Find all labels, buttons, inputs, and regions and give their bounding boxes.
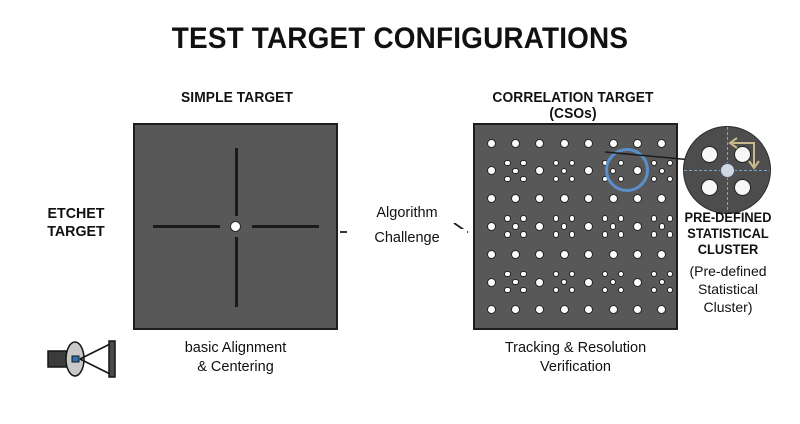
- cluster-dot: [602, 215, 609, 222]
- cluster-dot-center: [659, 223, 666, 230]
- magnifier-disc: [683, 126, 771, 214]
- cluster-dot-center: [610, 279, 617, 286]
- cluster-dot: [602, 231, 609, 238]
- cluster-dot: [569, 271, 576, 278]
- page-title: TEST TARGET CONFIGURATIONS: [28, 22, 772, 56]
- magnified-cluster-view: [683, 126, 771, 214]
- grid-dot-single: [560, 194, 569, 203]
- cluster-dot: [504, 160, 511, 167]
- grid-dot-single: [535, 222, 544, 231]
- grid-dot-single: [487, 278, 496, 287]
- predefined-cluster-label-line3: CLUSTER: [679, 242, 778, 258]
- grid-dot-single: [535, 166, 544, 175]
- cluster-dot: [520, 231, 527, 238]
- grid-dot-single: [487, 194, 496, 203]
- cluster-dot: [667, 231, 674, 238]
- grid-dot-single: [633, 222, 642, 231]
- cluster-dot: [569, 231, 576, 238]
- predefined-cluster-sublabel-line3: Cluster): [668, 298, 788, 316]
- grid-dot-single: [609, 305, 618, 314]
- cluster-dot-bottom-right: [734, 179, 751, 196]
- cluster-dot-bottom-left: [701, 179, 718, 196]
- predefined-cluster-label-line2: STATISTICAL: [679, 226, 778, 242]
- grid-dot-single: [487, 250, 496, 259]
- predefined-cluster-sublabel-line2: Statistical: [668, 280, 788, 298]
- cluster-dot: [520, 287, 527, 294]
- cluster-dot: [569, 160, 576, 167]
- cluster-dot-center: [512, 223, 519, 230]
- predefined-cluster-label-line1: PRE-DEFINED: [679, 210, 778, 226]
- crosshair-right-line: [252, 225, 319, 228]
- grid-dot-single: [584, 222, 593, 231]
- diagram-canvas: TEST TARGET CONFIGURATIONS ETCHET TARGET…: [0, 0, 800, 424]
- cluster-dot: [520, 215, 527, 222]
- cluster-dot: [602, 271, 609, 278]
- cluster-dot: [618, 231, 625, 238]
- etchet-target-label-line2: TARGET: [25, 223, 128, 241]
- cluster-dot: [504, 271, 511, 278]
- algorithm-challenge-label-line1: Algorithm: [347, 204, 467, 223]
- grid-dot-single: [609, 250, 618, 259]
- cluster-dot: [553, 176, 560, 183]
- grid-dot-single: [535, 194, 544, 203]
- simple-target-caption-line1: basic Alignment: [133, 339, 338, 358]
- cluster-dot-center: [512, 168, 519, 175]
- cluster-dot: [553, 287, 560, 294]
- cluster-dot: [569, 215, 576, 222]
- correlation-target-heading: CORRELATION TARGET (CSOs): [468, 90, 679, 122]
- cluster-dot: [504, 215, 511, 222]
- grid-dot-single: [633, 305, 642, 314]
- cluster-dot-center: [610, 223, 617, 230]
- grid-dot-single: [584, 194, 593, 203]
- grid-dot-single: [584, 139, 593, 148]
- grid-dot-single: [633, 194, 642, 203]
- predefined-cluster-sublabel: (Pre-defined Statistical Cluster): [668, 262, 788, 317]
- grid-dot-single: [560, 250, 569, 259]
- cluster-dot: [520, 176, 527, 183]
- cluster-dot: [651, 287, 658, 294]
- cluster-dot-center: [659, 279, 666, 286]
- algorithm-challenge-label: Algorithm Challenge: [347, 204, 467, 247]
- correlation-target-caption: Tracking & Resolution Verification: [458, 339, 693, 377]
- simple-target-caption: basic Alignment & Centering: [133, 339, 338, 377]
- grid-dot-single: [487, 305, 496, 314]
- cluster-dot: [504, 231, 511, 238]
- cluster-dot: [553, 231, 560, 238]
- grid-dot-single: [657, 250, 666, 259]
- cluster-dot: [667, 215, 674, 222]
- cluster-dot: [569, 176, 576, 183]
- cluster-dot: [553, 271, 560, 278]
- cluster-dot: [651, 271, 658, 278]
- grid-dot-single: [560, 139, 569, 148]
- cluster-dot: [618, 271, 625, 278]
- correlation-target-caption-line1: Tracking & Resolution: [458, 339, 693, 358]
- center-alignment-dot: [230, 221, 241, 232]
- grid-dot-single: [511, 139, 520, 148]
- grid-dot-single: [584, 250, 593, 259]
- grid-dot-single: [535, 278, 544, 287]
- cluster-dot-center: [561, 168, 568, 175]
- cluster-dot-center: [512, 279, 519, 286]
- measurement-arrows-icon: [728, 135, 768, 175]
- grid-dot-single: [511, 305, 520, 314]
- predefined-cluster-sublabel-line1: (Pre-defined: [668, 262, 788, 280]
- grid-dot-single: [633, 278, 642, 287]
- grid-dot-single: [584, 305, 593, 314]
- grid-dot-single: [657, 305, 666, 314]
- grid-dot-single: [535, 139, 544, 148]
- grid-dot-single: [560, 305, 569, 314]
- crosshair-top-line: [235, 148, 238, 216]
- simple-target-panel: [133, 123, 338, 330]
- cluster-dot: [504, 176, 511, 183]
- etchet-target-label: ETCHET TARGET: [25, 205, 128, 242]
- grid-dot-single: [535, 250, 544, 259]
- grid-dot-single: [487, 166, 496, 175]
- cluster-dot: [569, 287, 576, 294]
- algorithm-challenge-label-line2: Challenge: [347, 229, 467, 248]
- simple-target-heading: SIMPLE TARGET: [138, 90, 336, 106]
- cluster-dot-center: [561, 223, 568, 230]
- grid-dot-single: [584, 278, 593, 287]
- simple-target-caption-line2: & Centering: [133, 358, 338, 377]
- grid-dot-single: [584, 166, 593, 175]
- crosshair-left-line: [153, 225, 220, 228]
- cluster-dot: [618, 287, 625, 294]
- cluster-dot: [651, 215, 658, 222]
- cluster-dot: [651, 231, 658, 238]
- cluster-dot: [504, 287, 511, 294]
- cluster-dot-top-left: [701, 146, 718, 163]
- crosshair-bottom-line: [235, 237, 238, 307]
- grid-dot-single: [609, 194, 618, 203]
- cluster-dot: [553, 160, 560, 167]
- grid-dot-single: [535, 305, 544, 314]
- etchet-target-label-line1: ETCHET: [25, 205, 128, 223]
- grid-dot-single: [511, 250, 520, 259]
- correlation-target-caption-line2: Verification: [458, 358, 693, 377]
- cluster-dot: [520, 271, 527, 278]
- cluster-dot: [618, 215, 625, 222]
- grid-dot-single: [633, 250, 642, 259]
- grid-dot-single: [657, 194, 666, 203]
- grid-dot-single: [511, 194, 520, 203]
- cluster-dot: [553, 215, 560, 222]
- grid-dot-single: [487, 139, 496, 148]
- camera-projector-icon: [46, 331, 122, 387]
- cluster-dot: [602, 287, 609, 294]
- grid-dot-single: [487, 222, 496, 231]
- cluster-dot-center: [561, 279, 568, 286]
- predefined-cluster-label: PRE-DEFINED STATISTICAL CLUSTER: [679, 210, 778, 259]
- cluster-dot: [520, 160, 527, 167]
